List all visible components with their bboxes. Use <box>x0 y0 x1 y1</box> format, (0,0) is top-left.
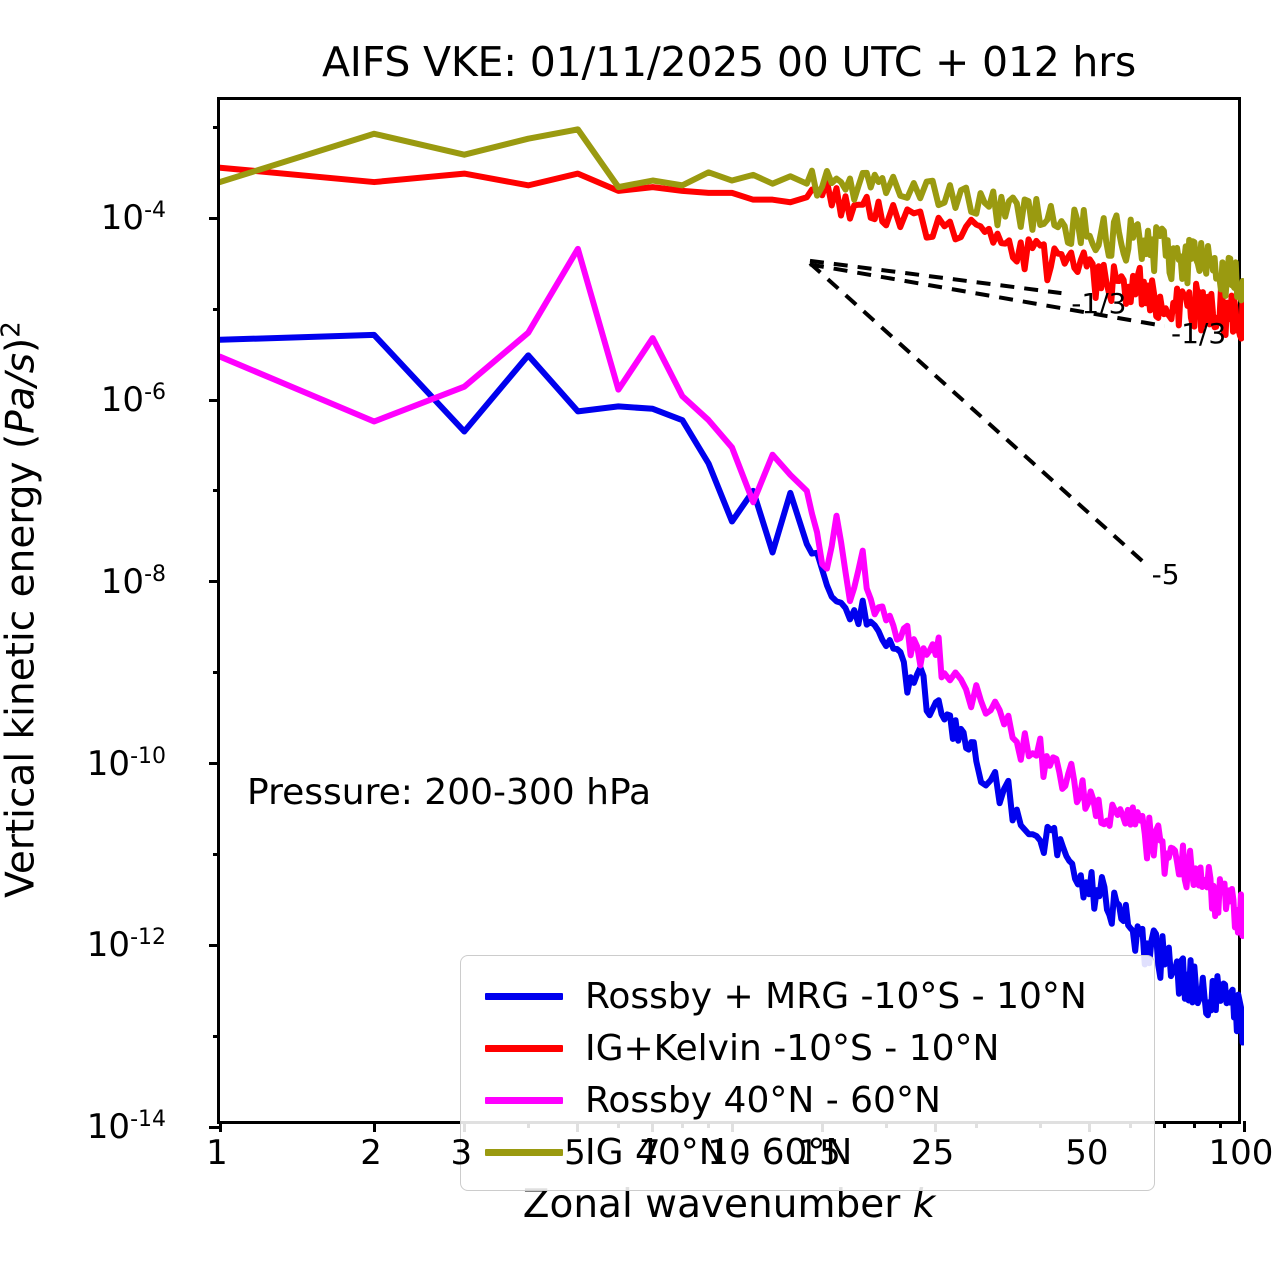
y-tick-mark-0 <box>209 217 220 220</box>
legend-label-1: IG+Kelvin -10°S - 10°N <box>585 1028 999 1069</box>
series-line-2 <box>220 249 1244 936</box>
slope-label-lower: -1/3 <box>1171 317 1226 350</box>
legend-swatch-2 <box>485 1097 563 1104</box>
plot-area: 10-410-610-810-1010-1210-14 Pressure: 20… <box>217 97 1241 1124</box>
x-tick-label-7: 25 <box>911 1133 954 1173</box>
y-minor-tick-3 <box>213 853 220 856</box>
x-minor-tick-8 <box>1163 1121 1166 1128</box>
y-axis-label-post: ) <box>0 338 44 353</box>
slope-label-minus5: -5 <box>1152 558 1180 591</box>
figure: AIFS VKE: 01/11/2025 00 UTC + 012 hrs Ve… <box>0 0 1280 1288</box>
y-tick-label-4: 10-12 <box>87 925 166 965</box>
x-tick-mark-9 <box>1243 1121 1246 1132</box>
y-axis-label: Vertical kinetic energy (Pa/s)2 <box>0 30 44 1190</box>
y-minor-tick-1 <box>213 489 220 492</box>
series-line-3 <box>220 129 1244 300</box>
y-tick-mark-4 <box>209 944 220 947</box>
x-tick-label-5: 10 <box>707 1133 750 1173</box>
x-tick-label-9: 100 <box>1209 1133 1274 1173</box>
y-tick-mark-1 <box>209 399 220 402</box>
x-tick-label-0: 1 <box>206 1133 228 1173</box>
x-minor-tick-10 <box>1219 1121 1222 1128</box>
y-minor-tick-0 <box>213 308 220 311</box>
series-line-0 <box>220 335 1244 1043</box>
y-tick-label-2: 10-8 <box>101 562 166 602</box>
x-tick-label-6: 15 <box>798 1133 841 1173</box>
legend-swatch-0 <box>485 993 563 1000</box>
chart-title: AIFS VKE: 01/11/2025 00 UTC + 012 hrs <box>217 38 1241 86</box>
x-tick-mark-0 <box>219 1121 222 1132</box>
y-tick-label-3: 10-10 <box>87 743 166 783</box>
slope-label-upper: -1/3 <box>1071 287 1126 320</box>
y-tick-label-5: 10-14 <box>87 1107 166 1147</box>
x-tick-label-3: 5 <box>564 1133 586 1173</box>
y-minor-tick-4 <box>213 1035 220 1038</box>
y-axis-label-exponent: 2 <box>0 321 27 338</box>
legend-item-0[interactable]: Rossby + MRG -10°S - 10°N <box>461 970 1154 1022</box>
x-tick-label-2: 3 <box>450 1133 472 1173</box>
legend-item-2[interactable]: Rossby 40°N - 60°N <box>461 1074 1154 1126</box>
x-tick-label-4: 7 <box>639 1133 661 1173</box>
y-minor-tick-5 <box>213 126 220 129</box>
x-tick-mark-1 <box>373 1121 376 1132</box>
x-minor-tick-9 <box>1193 1121 1196 1128</box>
y-tick-label-1: 10-6 <box>101 380 166 420</box>
y-axis-label-units: Pa/s <box>0 353 44 434</box>
series-group <box>220 129 1244 1042</box>
y-minor-tick-2 <box>213 671 220 674</box>
legend-swatch-3 <box>485 1149 563 1156</box>
legend-label-2: Rossby 40°N - 60°N <box>585 1080 941 1121</box>
legend-swatch-1 <box>485 1045 563 1052</box>
y-tick-mark-3 <box>209 762 220 765</box>
pressure-annotation: Pressure: 200-300 hPa <box>247 772 651 813</box>
y-axis-label-pre: Vertical kinetic energy ( <box>0 434 44 898</box>
y-tick-label-0: 10-4 <box>101 198 166 238</box>
legend-label-0: Rossby + MRG -10°S - 10°N <box>585 976 1087 1017</box>
y-tick-mark-2 <box>209 580 220 583</box>
x-tick-label-1: 2 <box>360 1133 382 1173</box>
x-tick-label-8: 50 <box>1065 1133 1108 1173</box>
legend-item-1[interactable]: IG+Kelvin -10°S - 10°N <box>461 1022 1154 1074</box>
